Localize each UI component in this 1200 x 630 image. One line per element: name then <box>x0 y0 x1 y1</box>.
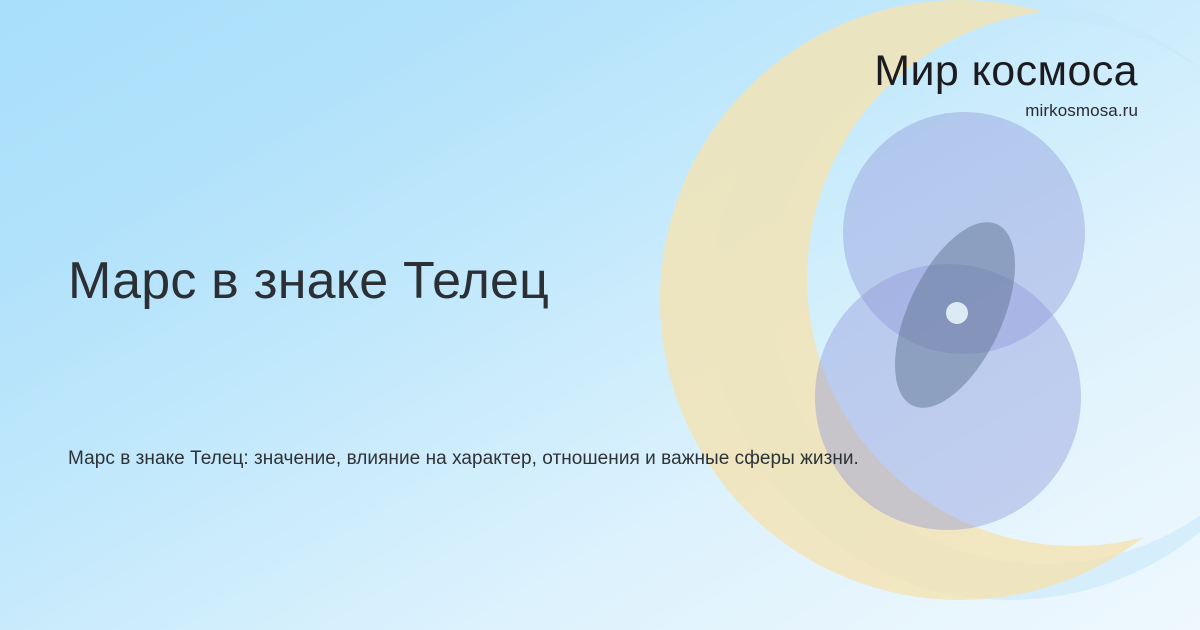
center-dot-shape <box>946 302 968 324</box>
upper-circle-shape <box>843 112 1085 354</box>
page-subtitle: Марс в знаке Телец: значение, влияние на… <box>68 447 859 472</box>
site-logo[interactable]: Мир космоса mirkosmosa.ru <box>874 50 1138 119</box>
page-title: Марс в знаке Телец <box>68 252 549 312</box>
banner: Мир космоса mirkosmosa.ru Марс в знаке Т… <box>0 0 1200 630</box>
site-name: Мир космоса <box>874 50 1138 93</box>
center-ellipse-shape <box>870 205 1040 426</box>
lower-circle-shape <box>815 264 1081 530</box>
site-url: mirkosmosa.ru <box>874 102 1138 119</box>
